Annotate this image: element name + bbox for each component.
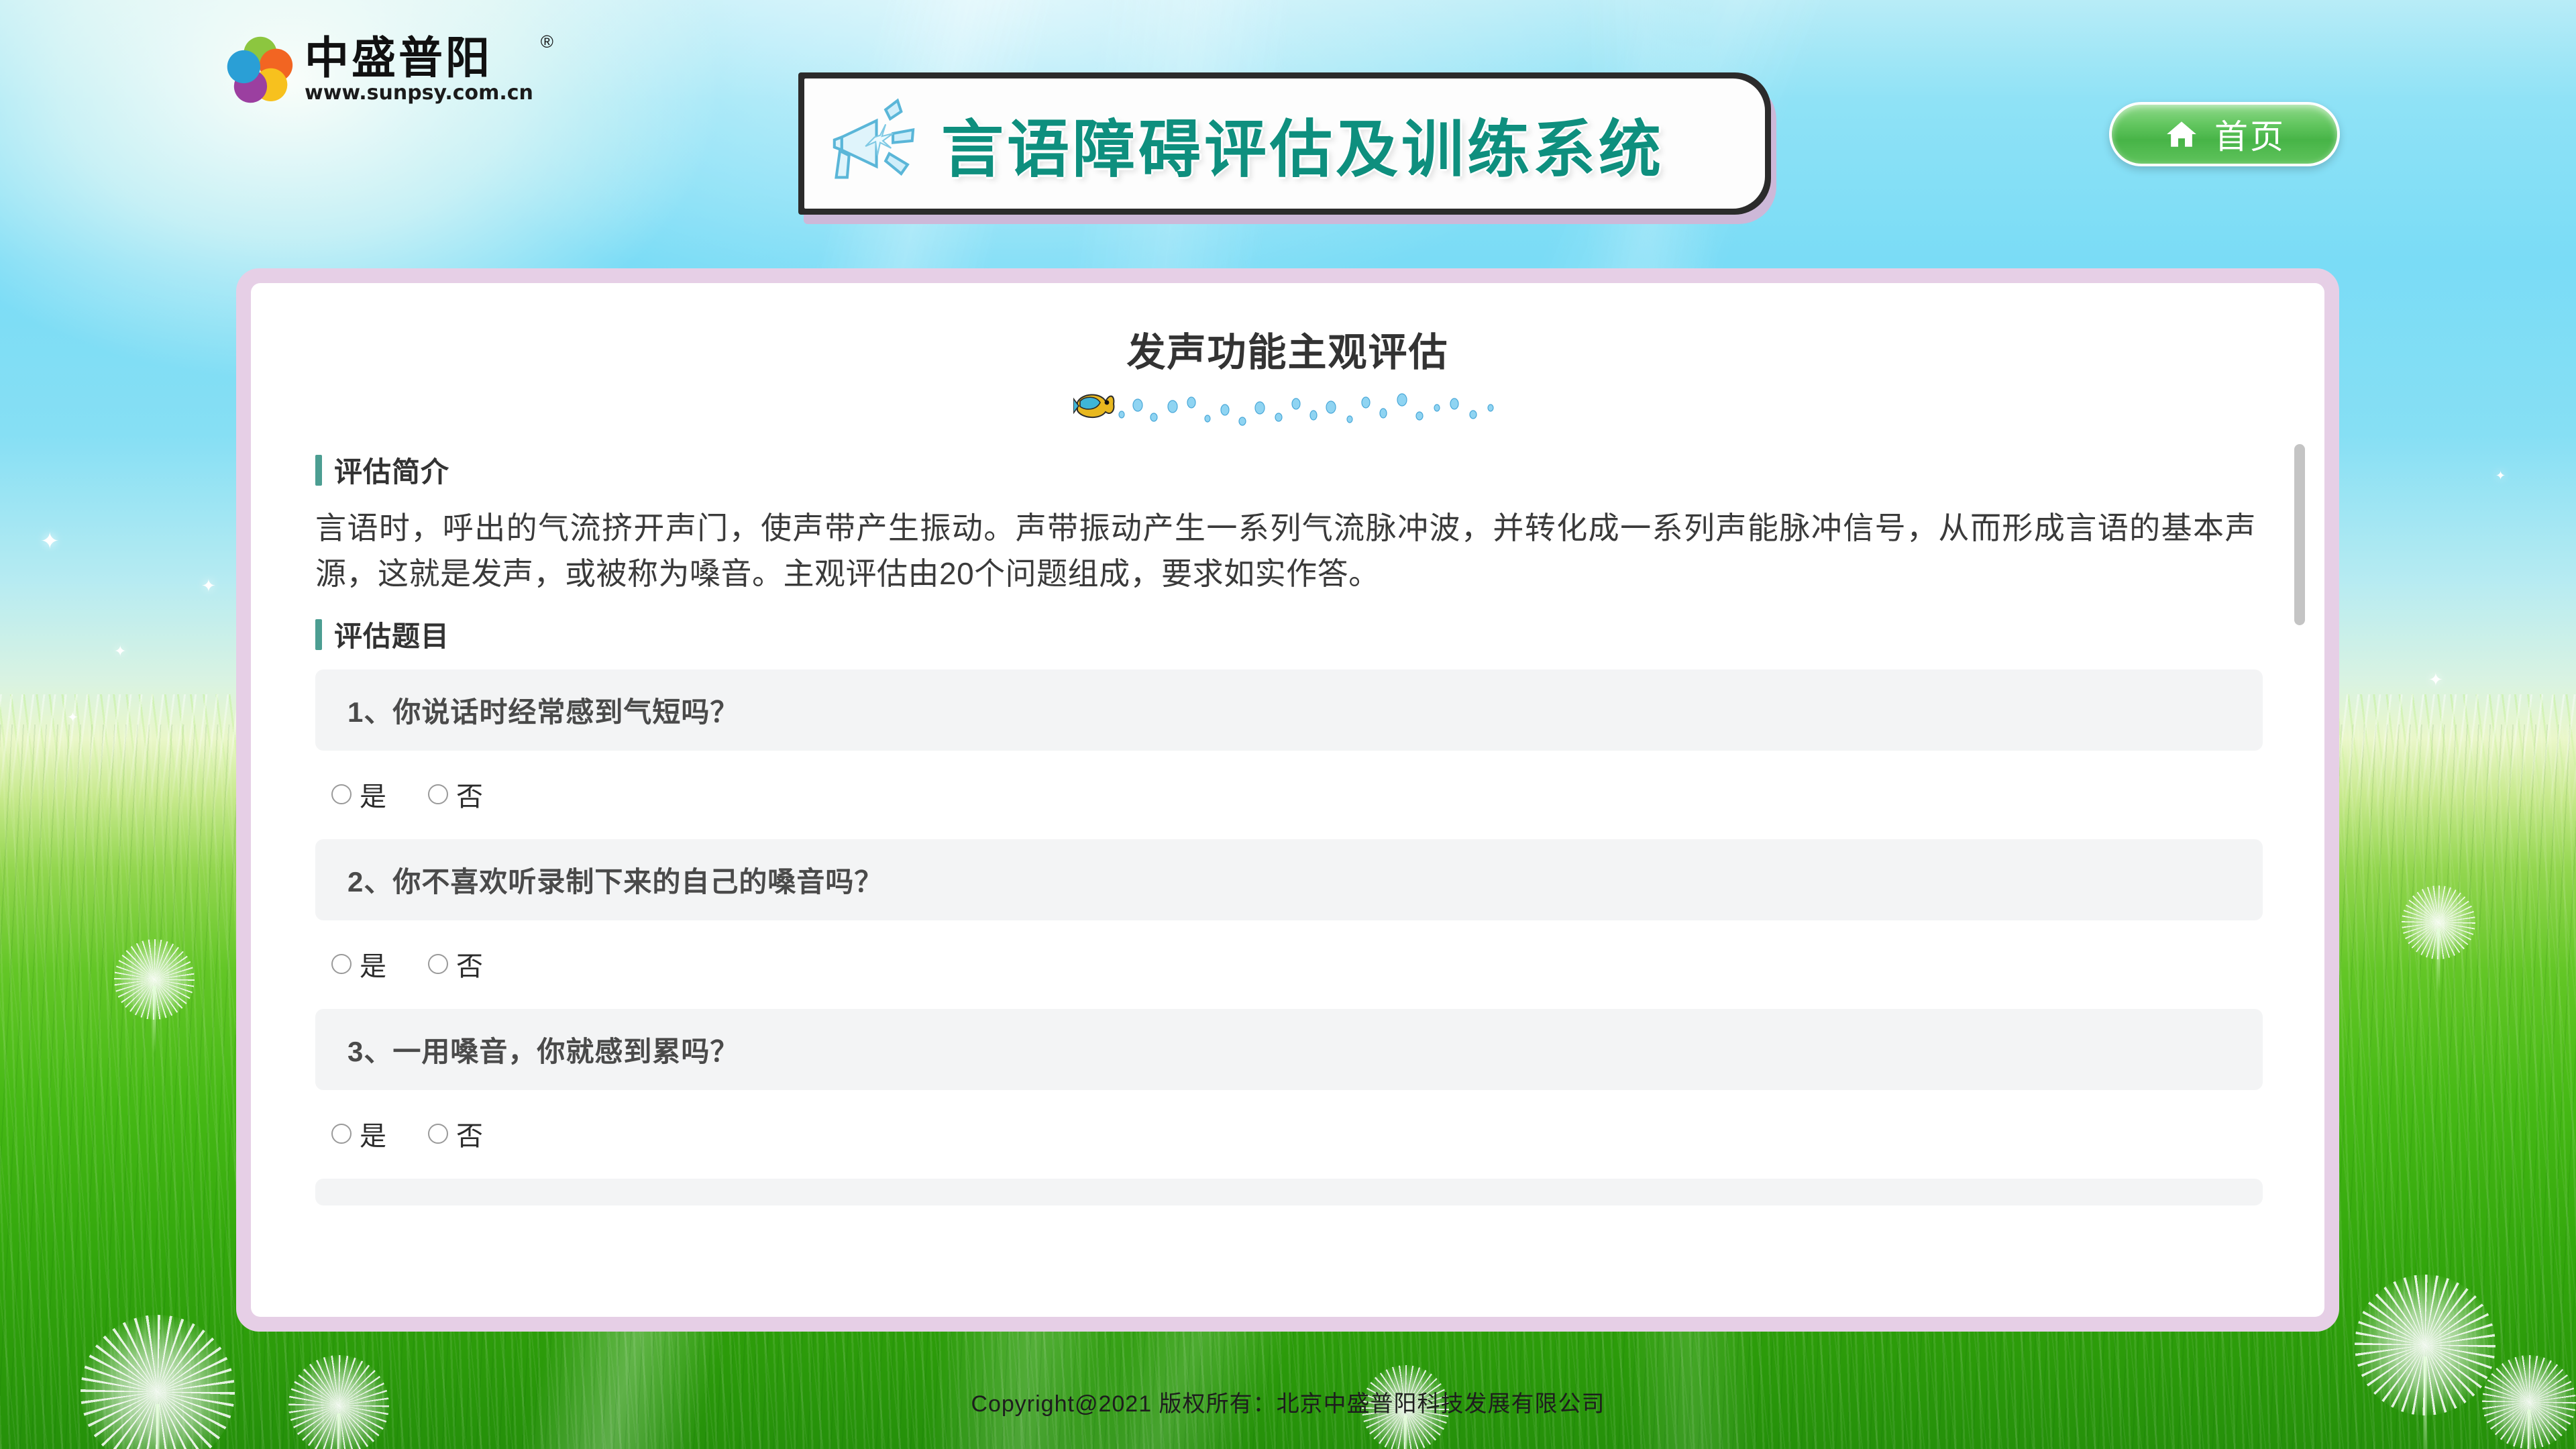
option-label: 否 [456,945,483,983]
question-options: 是 否 [315,751,2263,833]
banner-frame: 言语障碍评估及训练系统 [798,72,1771,215]
registered-trademark-icon: ® [541,32,553,52]
logo-company-name: 中盛普阳 [305,36,533,80]
sparkle-icon: ✦ [2428,671,2443,688]
sparkle-icon: ✦ [40,530,60,553]
question-card: 3、一用嗓音，你就感到累吗？ [315,1009,2263,1090]
option-yes[interactable]: 是 [331,1114,386,1153]
content-card: 发声功能主观评估 [236,268,2339,1332]
card-body: 发声功能主观评估 [251,283,2324,1317]
intro-paragraph: 言语时，呼出的气流挤开声门，使声带产生振动。声带振动产生一系列气流脉冲波，并转化… [315,505,2263,596]
radio-icon[interactable] [331,954,352,974]
brand-logo[interactable]: 中盛普阳 ® www.sunpsy.com.cn [223,32,533,107]
scrollbar-thumb[interactable] [2294,444,2305,625]
question-text: 3、一用嗓音，你就感到累吗？ [347,1029,2263,1070]
dandelion-decoration [2402,885,2475,959]
option-no[interactable]: 否 [428,1114,483,1153]
assessment-scroll-area[interactable]: 评估简介 言语时，呼出的气流挤开声门，使声带产生振动。声带振动产生一系列气流脉冲… [251,432,2324,1317]
radio-icon[interactable] [428,1124,448,1144]
fish-icon [1073,394,1114,417]
question-text: 1、你说话时经常感到气短吗？ [347,690,2263,731]
questions-section-header: 评估题目 [315,614,2263,655]
system-title-banner: 言语障碍评估及训练系统 [798,72,1771,215]
system-title-text: 言语障碍评估及训练系统 [941,99,1664,189]
option-no[interactable]: 否 [428,775,483,814]
sparkle-icon: ✦ [114,644,126,659]
intro-section-title: 评估简介 [334,449,449,490]
section-accent-bar [315,619,322,650]
pinwheel-logo-icon [223,32,298,107]
option-label: 否 [456,775,483,814]
banner-inner: 言语障碍评估及训练系统 [804,78,1765,209]
question-card: 2、你不喜欢听录制下来的自己的嗓音吗？ [315,839,2263,920]
home-button[interactable]: 首页 [2109,102,2340,166]
option-yes[interactable]: 是 [331,945,386,983]
questions-section-title: 评估题目 [334,614,449,655]
option-no[interactable]: 否 [428,945,483,983]
scrollbar[interactable] [2292,444,2307,1316]
intro-section-header: 评估简介 [315,449,2263,490]
fish-and-bubbles-decoration [1073,388,1503,429]
radio-icon[interactable] [428,954,448,974]
sparkle-icon: ✦ [67,711,78,724]
option-yes[interactable]: 是 [331,775,386,814]
megaphone-icon [823,93,937,194]
section-accent-bar [315,455,322,486]
question-options: 是 否 [315,1090,2263,1172]
question-text: 2、你不喜欢听录制下来的自己的嗓音吗？ [347,859,2263,900]
question-options: 是 否 [315,920,2263,1002]
page-title: 发声功能主观评估 [251,283,2324,377]
home-button-label: 首页 [2214,110,2286,158]
footer-copyright: Copyright@2021 版权所有：北京中盛普阳科技发展有限公司 [0,1385,2576,1418]
logo-website-url: www.sunpsy.com.cn [305,81,533,105]
dandelion-decoration [80,1315,235,1449]
radio-icon[interactable] [331,784,352,804]
question-card: 1、你说话时经常感到气短吗？ [315,669,2263,751]
radio-icon[interactable] [428,784,448,804]
sparkle-icon: ✦ [2495,470,2506,482]
dandelion-decoration [114,939,195,1020]
app-background: ✦ ✦ ✦ ✦ ✦ ✦ ✦ ✦ ✦ ✦ ✦ ✦ 中盛普 [0,0,2576,1449]
sparkle-icon: ✦ [201,577,216,594]
home-icon [2163,117,2200,151]
option-label: 是 [360,945,386,983]
option-label: 是 [360,775,386,814]
radio-icon[interactable] [331,1124,352,1144]
question-card [315,1179,2263,1205]
option-label: 是 [360,1114,386,1153]
option-label: 否 [456,1114,483,1153]
